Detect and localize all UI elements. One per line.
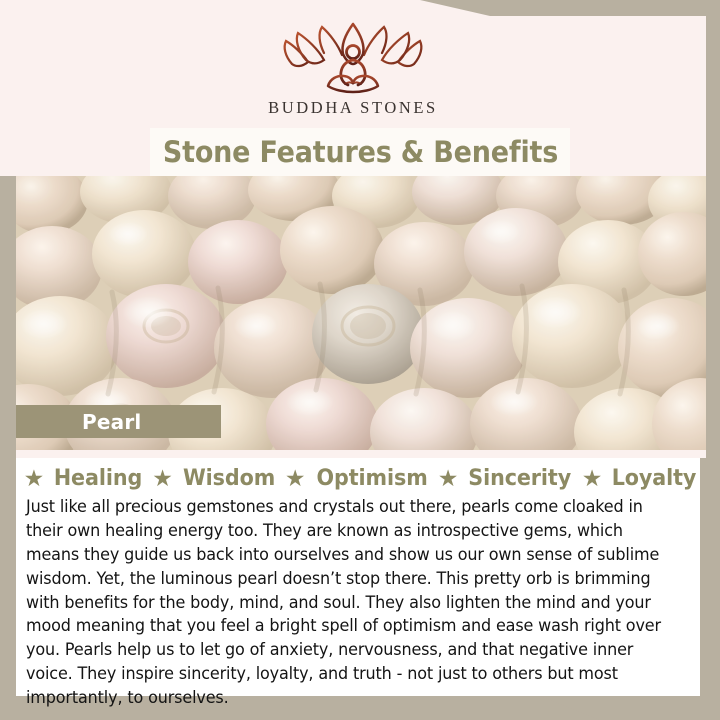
- title-banner: Stone Features & Benefits: [150, 128, 570, 176]
- keyword-optimism: ★ Optimism: [278, 466, 431, 491]
- page-title: Stone Features & Benefits: [162, 135, 557, 169]
- star-icon: ★: [285, 467, 306, 490]
- star-icon: ★: [582, 467, 603, 490]
- keyword-loyalty: ★ Loyalty: [575, 466, 700, 491]
- keyword-label: Wisdom: [183, 466, 275, 491]
- keyword-wisdom: ★ Wisdom: [145, 466, 278, 491]
- description-text: Just like all precious gemstones and cry…: [26, 495, 667, 710]
- star-icon: ★: [24, 467, 45, 490]
- benefit-keywords: ★ Healing ★ Wisdom ★ Optimism ★ Sincerit…: [16, 466, 700, 491]
- brand-logo: BUDDHA STONES: [0, 16, 706, 118]
- frame-accent-left: [0, 452, 16, 720]
- divider-strip: [16, 450, 706, 458]
- keyword-healing: ★ Healing: [17, 466, 146, 491]
- infographic-card: BUDDHA STONES Stone Features & Benefits: [0, 0, 720, 720]
- keyword-label: Sincerity: [469, 466, 572, 491]
- lotus-meditation-icon: [278, 16, 428, 96]
- stone-name: Pearl: [82, 410, 141, 434]
- star-icon: ★: [152, 467, 173, 490]
- keyword-label: Optimism: [316, 466, 427, 491]
- keyword-sincerity: ★ Sincerity: [431, 466, 575, 491]
- frame-accent-right: [704, 0, 720, 720]
- brand-name: BUDDHA STONES: [268, 98, 438, 118]
- stone-label-bar: Pearl: [16, 405, 221, 438]
- star-icon: ★: [438, 467, 459, 490]
- keyword-label: Loyalty: [612, 466, 697, 491]
- keyword-label: Healing: [54, 466, 142, 491]
- description-panel: ★ Healing ★ Wisdom ★ Optimism ★ Sincerit…: [16, 458, 700, 696]
